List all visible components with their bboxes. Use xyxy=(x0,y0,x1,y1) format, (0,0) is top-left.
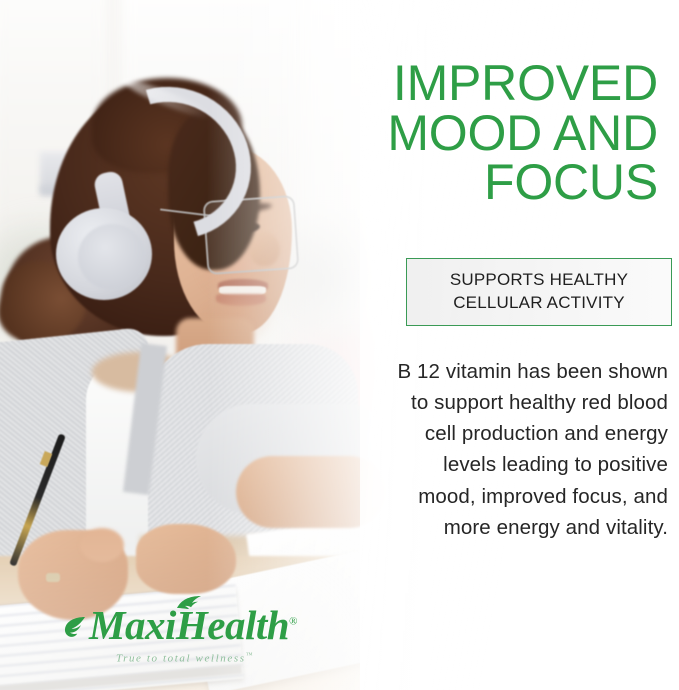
trademark-icon: ™ xyxy=(246,651,254,659)
brand-tagline: True to total wellness™ xyxy=(60,651,310,665)
claim-line-1: SUPPORTS HEALTHY xyxy=(450,269,628,292)
brand-tagline-text: True to total wellness xyxy=(116,653,246,665)
body-line-5: mood, improved focus, and xyxy=(368,481,668,512)
headphones-earcup-inner xyxy=(78,224,146,290)
brand-logo: MaxiHealth® True to total wellness™ xyxy=(60,598,310,670)
brand-logo-mark: MaxiHealth® xyxy=(60,598,310,646)
headline-line-3: FOCUS xyxy=(362,158,658,208)
claim-text: SUPPORTS HEALTHY CELLULAR ACTIVITY xyxy=(450,269,628,315)
thumb xyxy=(80,528,124,562)
brand-name-part-1: Maxi xyxy=(89,602,176,648)
content-panel: IMPROVED MOOD AND FOCUS SUPPORTS HEALTHY… xyxy=(360,0,679,690)
body-line-3: cell production and energy xyxy=(368,418,668,449)
product-ad-banner: IMPROVED MOOD AND FOCUS SUPPORTS HEALTHY… xyxy=(0,0,679,690)
resting-hand xyxy=(136,524,236,594)
registered-trademark-icon: ® xyxy=(289,615,297,627)
claim-callout-box: SUPPORTS HEALTHY CELLULAR ACTIVITY xyxy=(406,258,672,326)
headline-line-2: MOOD AND xyxy=(362,109,658,159)
headline-line-1: IMPROVED xyxy=(362,59,658,109)
page-title: IMPROVED MOOD AND FOCUS xyxy=(362,59,658,208)
body-line-6: more energy and vitality. xyxy=(368,512,668,543)
brand-name-part-2: Health xyxy=(176,602,289,648)
brand-wordmark: MaxiHealth® xyxy=(73,605,297,646)
body-copy: B 12 vitamin has been shown to support h… xyxy=(368,356,668,543)
claim-line-2: CELLULAR ACTIVITY xyxy=(450,292,628,315)
body-line-2: to support healthy red blood xyxy=(368,387,668,418)
body-line-4: levels leading to positive xyxy=(368,449,668,480)
ring xyxy=(46,573,60,582)
body-line-1: B 12 vitamin has been shown xyxy=(368,356,668,387)
